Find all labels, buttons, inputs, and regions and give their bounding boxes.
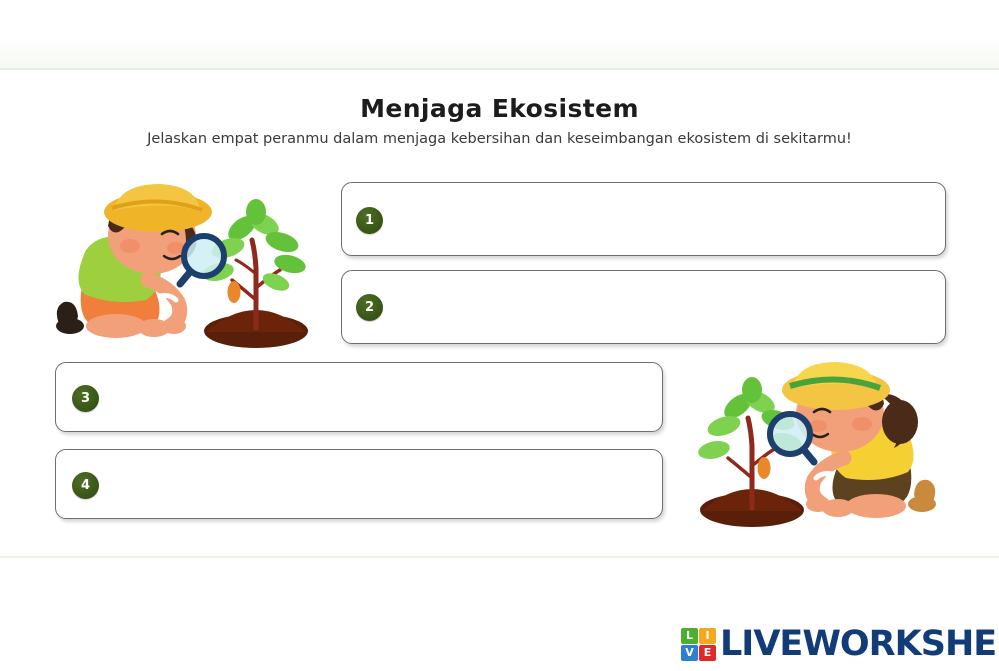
- answer-input-4[interactable]: [108, 454, 654, 514]
- worksheet-page: Menjaga Ekosistem Jelaskan empat peranmu…: [0, 0, 999, 671]
- logo-tile-l: L: [681, 628, 698, 644]
- boy-with-magnifier-illustration: [42, 176, 314, 352]
- answer-badge-3: 3: [72, 385, 99, 412]
- page-subtitle: Jelaskan empat peranmu dalam menjaga keb…: [0, 131, 999, 147]
- logo-tile-e: E: [699, 645, 716, 661]
- logo-tiles: L I V E: [681, 628, 716, 661]
- answer-box-1[interactable]: 1: [341, 182, 946, 256]
- answer-input-1[interactable]: [394, 187, 937, 251]
- page-title: Menjaga Ekosistem: [0, 94, 999, 123]
- bottom-divider: [0, 556, 999, 558]
- answer-badge-4: 4: [72, 472, 99, 499]
- top-band: [0, 0, 999, 68]
- girl-with-magnifier-illustration: [694, 356, 950, 532]
- answer-box-4[interactable]: 4: [55, 449, 663, 519]
- answer-box-2[interactable]: 2: [341, 270, 946, 344]
- logo-wordmark: LIVEWORKSHEETS: [720, 627, 999, 662]
- answer-badge-1: 1: [356, 207, 383, 234]
- answer-badge-2: 2: [356, 294, 383, 321]
- answer-input-3[interactable]: [108, 367, 654, 427]
- logo-tile-v: V: [681, 645, 698, 661]
- liveworksheets-logo[interactable]: L I V E LIVEWORKSHEETS: [681, 624, 999, 664]
- answer-input-2[interactable]: [394, 275, 937, 339]
- logo-tile-i: I: [699, 628, 716, 644]
- answer-box-3[interactable]: 3: [55, 362, 663, 432]
